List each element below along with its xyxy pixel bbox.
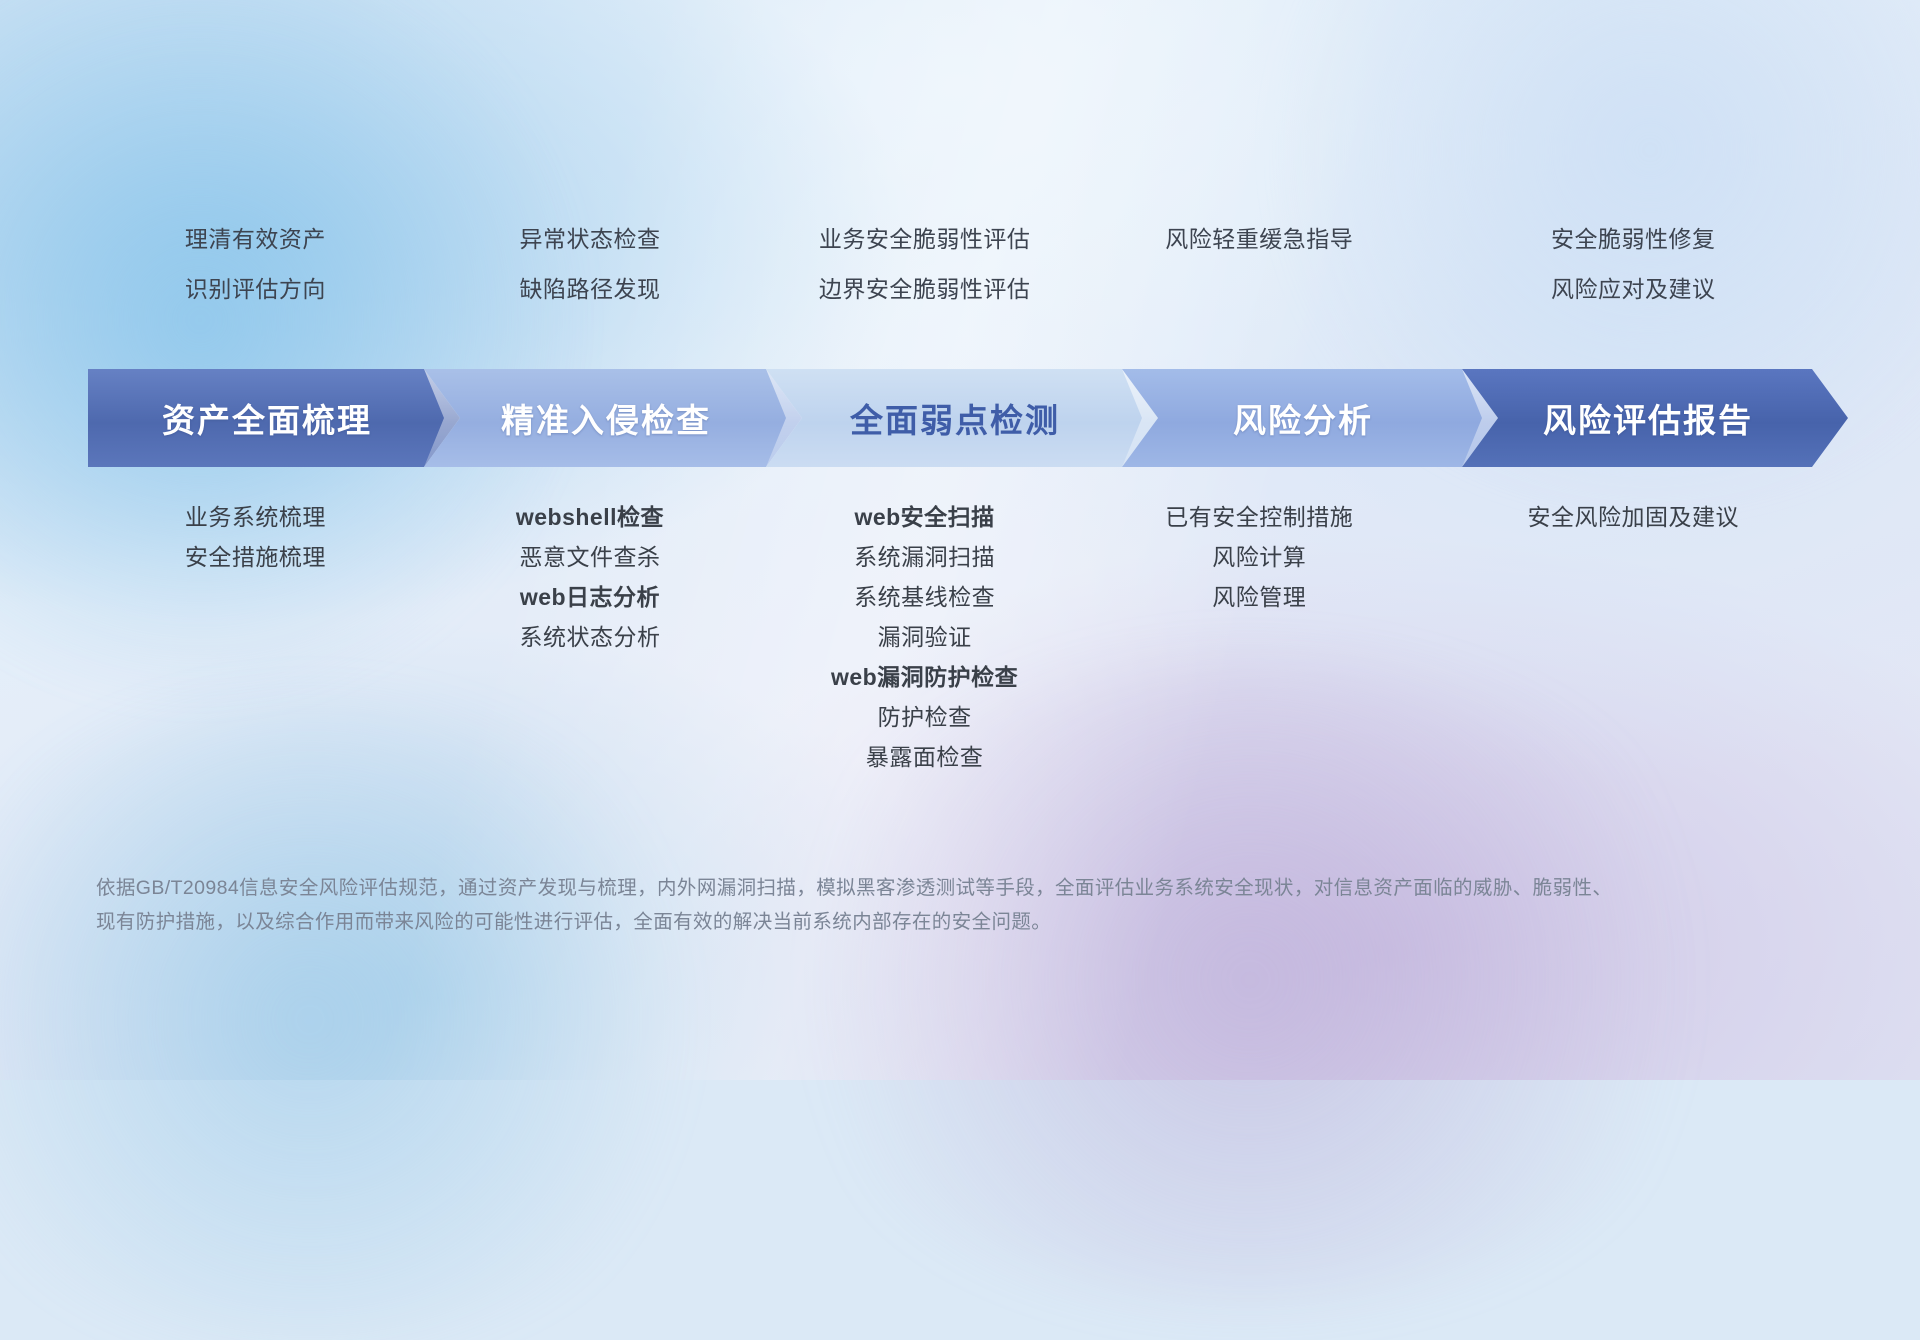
task-line: 已有安全控制措施 xyxy=(1092,506,1427,529)
note-line: 理清有效资产 xyxy=(88,228,423,251)
footer-description: 依据GB/T20984信息安全风险评估规范，通过资产发现与梳理，内外网漏洞扫描，… xyxy=(96,872,1626,939)
task-line: 风险管理 xyxy=(1092,586,1427,609)
tasks-stage-5: 安全风险加固及建议 xyxy=(1427,506,1840,769)
top-notes-stage-4: 风险轻重缓急指导 xyxy=(1092,228,1427,301)
top-notes-row: 理清有效资产 识别评估方向 异常状态检查 缺陷路径发现 业务安全脆弱性评估 边界… xyxy=(88,228,1840,301)
task-line: 防护检查 xyxy=(757,706,1092,729)
top-notes-stage-2: 异常状态检查 缺陷路径发现 xyxy=(423,228,758,301)
note-line: 识别评估方向 xyxy=(88,278,423,301)
task-line: 系统漏洞扫描 xyxy=(757,546,1092,569)
task-line: 安全风险加固及建议 xyxy=(1427,506,1840,529)
top-notes-stage-3: 业务安全脆弱性评估 边界安全脆弱性评估 xyxy=(757,228,1092,301)
task-line: web漏洞防护检查 xyxy=(757,666,1092,689)
note-line: 安全脆弱性修复 xyxy=(1427,228,1840,251)
note-line: 风险轻重缓急指导 xyxy=(1092,228,1427,251)
bottom-tasks-row: 业务系统梳理 安全措施梳理 webshell检查 恶意文件查杀 web日志分析 … xyxy=(88,506,1840,769)
task-line: 漏洞验证 xyxy=(757,626,1092,649)
tasks-stage-1: 业务系统梳理 安全措施梳理 xyxy=(88,506,423,769)
task-line: 暴露面检查 xyxy=(757,746,1092,769)
process-diagram: 理清有效资产 识别评估方向 异常状态检查 缺陷路径发现 业务安全脆弱性评估 边界… xyxy=(0,0,1920,1080)
task-line: 系统基线检查 xyxy=(757,586,1092,609)
stage-arrow-label: 风险分析 xyxy=(1233,394,1387,442)
note-line: 业务安全脆弱性评估 xyxy=(757,228,1092,251)
tasks-stage-3: web安全扫描 系统漏洞扫描 系统基线检查 漏洞验证 web漏洞防护检查 防护检… xyxy=(757,506,1092,769)
stage-arrow-label: 资产全面梳理 xyxy=(162,394,386,442)
top-notes-stage-5: 安全脆弱性修复 风险应对及建议 xyxy=(1427,228,1840,301)
tasks-stage-2: webshell检查 恶意文件查杀 web日志分析 系统状态分析 xyxy=(423,506,758,769)
task-line: 风险计算 xyxy=(1092,546,1427,569)
stage-arrow-2[interactable]: 精准入侵检查 xyxy=(424,369,802,467)
stage-arrow-band: 资产全面梳理 精准入侵检查 全面弱点检测 风险分析 风险评估报告 xyxy=(88,369,1848,467)
task-line: web日志分析 xyxy=(423,586,758,609)
stage-arrow-5[interactable]: 风险评估报告 xyxy=(1462,369,1848,467)
stage-arrow-4[interactable]: 风险分析 xyxy=(1122,369,1498,467)
task-line: 业务系统梳理 xyxy=(88,506,423,529)
task-line: web安全扫描 xyxy=(757,506,1092,529)
stage-arrow-label: 全面弱点检测 xyxy=(850,394,1074,442)
note-line: 缺陷路径发现 xyxy=(423,278,758,301)
tasks-stage-4: 已有安全控制措施 风险计算 风险管理 xyxy=(1092,506,1427,769)
note-line: 风险应对及建议 xyxy=(1427,278,1840,301)
task-line: 安全措施梳理 xyxy=(88,546,423,569)
stage-arrow-label: 精准入侵检查 xyxy=(501,394,725,442)
task-line: 系统状态分析 xyxy=(423,626,758,649)
task-line: 恶意文件查杀 xyxy=(423,546,758,569)
top-notes-stage-1: 理清有效资产 识别评估方向 xyxy=(88,228,423,301)
note-line: 异常状态检查 xyxy=(423,228,758,251)
stage-arrow-label: 风险评估报告 xyxy=(1543,394,1767,442)
stage-arrow-1[interactable]: 资产全面梳理 xyxy=(88,369,460,467)
note-line: 边界安全脆弱性评估 xyxy=(757,278,1092,301)
task-line: webshell检查 xyxy=(423,506,758,529)
stage-arrow-3[interactable]: 全面弱点检测 xyxy=(766,369,1158,467)
